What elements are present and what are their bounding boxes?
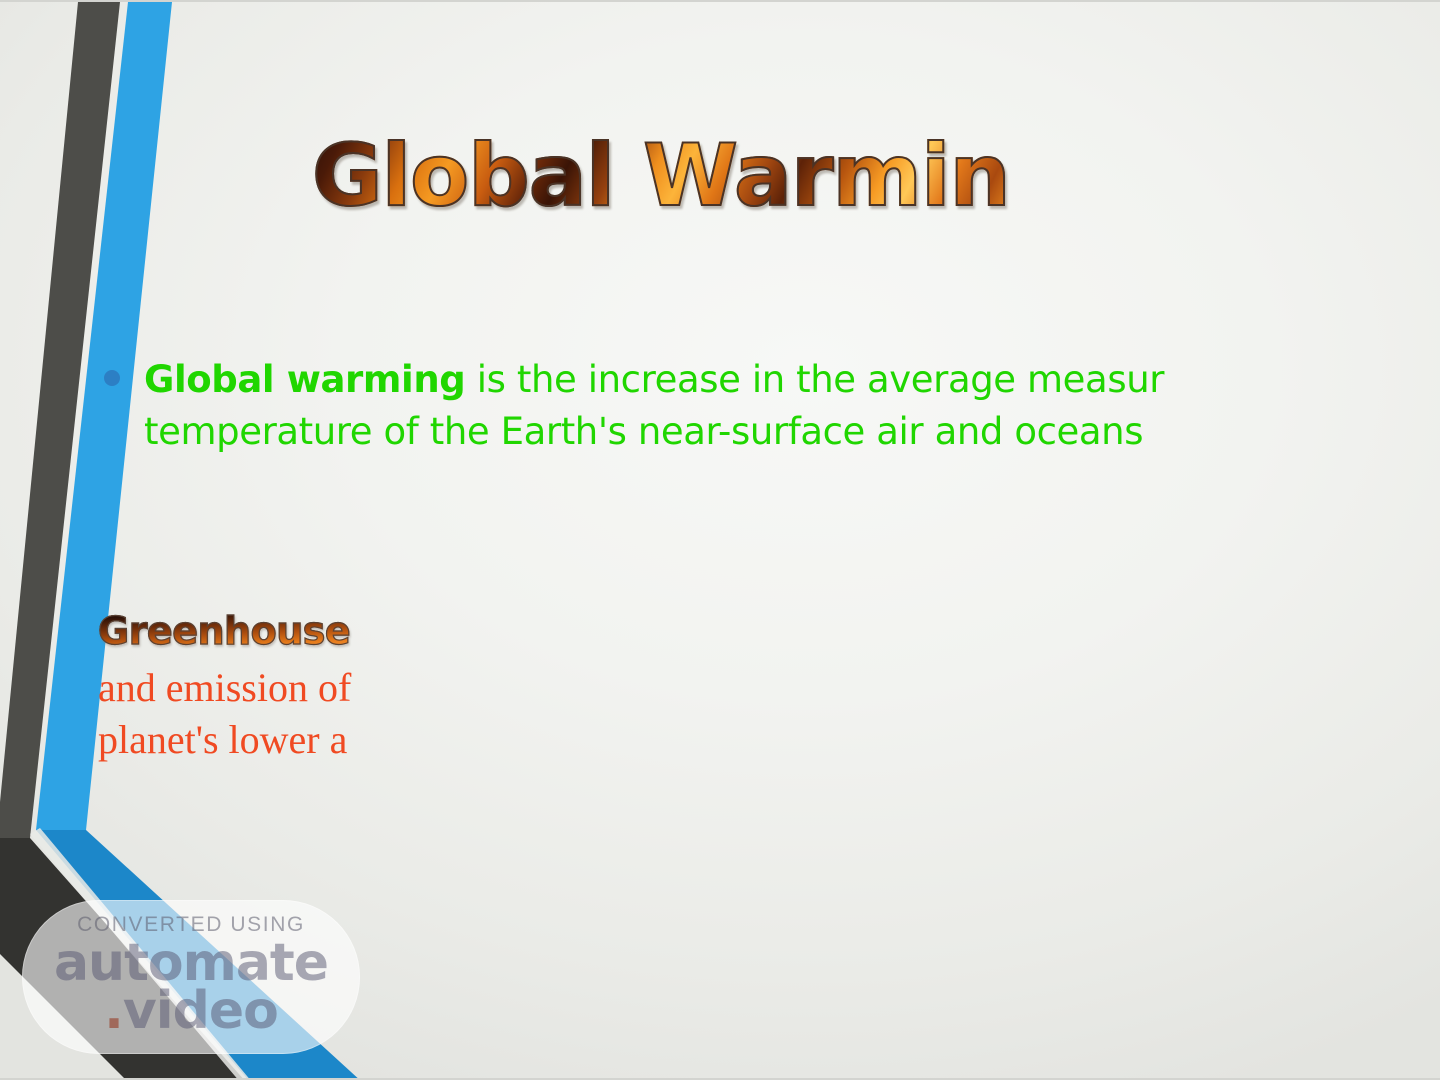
bullet-line-2: temperature of the Earth's near-surface … <box>144 406 1213 458</box>
slide-title: Global Warmin <box>312 120 1053 238</box>
bullet-line-1-rest: is the increase in the average measur <box>465 358 1164 401</box>
watermark-dot: . <box>104 981 123 1041</box>
watermark-top-label: CONVERTED USING <box>22 900 360 937</box>
slide-title-text: Global Warmin <box>312 120 1053 232</box>
greenhouse-body: and emission of planet's lower a <box>98 656 403 766</box>
watermark-domain-text: video <box>123 981 278 1041</box>
bullet-bold-lead: Global warming <box>144 358 465 401</box>
bullet-dot-icon <box>104 370 120 386</box>
watermark-badge: CONVERTED USING automate .video <box>22 900 360 1054</box>
greenhouse-line-1: and emission of <box>98 662 403 714</box>
bullet-paragraph: Global warming is the increase in the av… <box>96 354 1213 474</box>
presentation-slide: Global Warmin Global warming is the incr… <box>0 0 1440 1080</box>
greenhouse-heading: Greenhouse <box>98 606 403 656</box>
greenhouse-line-2: planet's lower a <box>98 714 403 766</box>
bullet-paragraph-text: Global warming is the increase in the av… <box>144 354 1213 458</box>
bullet-line-1: Global warming is the increase in the av… <box>144 354 1213 406</box>
greenhouse-paragraph: Greenhouse and emission of planet's lowe… <box>98 606 403 774</box>
